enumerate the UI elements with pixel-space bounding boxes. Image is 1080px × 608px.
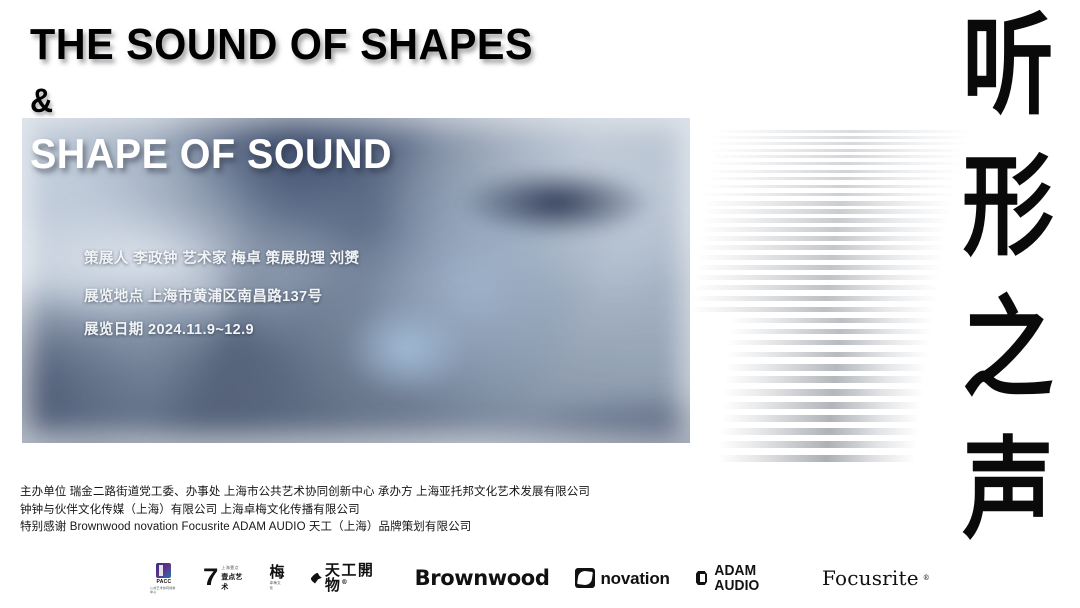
streak-line: [702, 201, 953, 206]
exhibition-venue-line: 展览地点 上海市黄浦区南昌路137号: [84, 285, 322, 306]
focusrite-registered-icon: ®: [923, 575, 930, 582]
exhibition-date-line: 展览日期 2024.11.9~12.9: [84, 318, 254, 339]
pacc-subtitle: 公共艺术协同创新中心: [150, 586, 178, 594]
streak-line: [690, 307, 935, 312]
yidian-subtitle-big: 壹点艺术: [221, 572, 243, 592]
streak-line: [710, 142, 967, 145]
streak-line: [720, 428, 919, 435]
pacc-wordmark: PACC: [156, 579, 171, 585]
vertical-title: 听 形 之 声: [952, 14, 1064, 542]
streak-line: [697, 245, 945, 250]
meizhuo-seal-char: 梅: [270, 565, 285, 580]
meizhuo-seal-subtitle: 卓梅文化: [270, 581, 285, 591]
streak-line: [707, 162, 962, 165]
streak-line: [706, 170, 960, 173]
streak-line: [693, 275, 940, 280]
streak-line: [723, 389, 924, 396]
streak-line: [704, 185, 957, 188]
vertical-title-char-1: 听: [962, 11, 1054, 121]
streak-line: [705, 177, 958, 180]
logo-yidian: 7 上海壹点 壹点艺术: [204, 565, 244, 592]
credits-line-2: 钟钟与伙伴文化传媒（上海）有限公司 上海卓梅文化传播有限公司: [20, 502, 590, 520]
exhibition-people-line: 策展人 李政钟 艺术家 梅卓 策展助理 刘赟: [84, 247, 359, 268]
credits-line-3: 特别感谢 Brownwood novation Focusrite ADAM A…: [20, 519, 590, 537]
tiangong-registered-icon: ®: [341, 579, 349, 586]
credits-line-1: 主办单位 瑞金二路街道党工委、办事处 上海市公共艺术协同创新中心 承办方 上海亚…: [20, 484, 590, 502]
streak-line: [703, 193, 955, 196]
tiangong-brush-icon: [311, 573, 322, 584]
streak-line: [698, 236, 947, 241]
streak-line: [694, 265, 942, 270]
streak-line: [719, 441, 917, 448]
streak-line: [700, 218, 950, 223]
streak-line: [718, 455, 915, 462]
exhibition-poster: THE SOUND OF SHAPES & SHAPE OF SOUND 策展人…: [0, 0, 1080, 608]
headline-ampersand: &: [30, 84, 54, 118]
adam-audio-wordmark: ADAM AUDIO: [714, 563, 792, 593]
streak-line: [701, 209, 952, 214]
logo-meizhuo-seal: 梅 卓梅文化: [270, 565, 285, 591]
soundwave-streak-texture: [690, 128, 970, 473]
streak-line: [725, 364, 927, 371]
yidian-subtitle-small: 上海壹点: [221, 565, 239, 571]
streak-line: [692, 285, 939, 290]
headline-line-1: THE SOUND OF SHAPES: [30, 23, 533, 67]
credits-block: 主办单位 瑞金二路街道党工委、办事处 上海市公共艺术协同创新中心 承办方 上海亚…: [20, 484, 590, 537]
streak-line: [729, 318, 934, 323]
yidian-mark-icon: 7: [203, 566, 218, 590]
novation-mark-icon: [575, 568, 595, 588]
yidian-text-group: 上海壹点 壹点艺术: [221, 565, 243, 592]
vertical-title-char-2: 形: [962, 152, 1054, 262]
streak-line: [696, 255, 944, 260]
logo-brownwood: Brownwood: [415, 568, 550, 589]
streak-line: [708, 155, 963, 158]
streak-line: [727, 340, 930, 345]
focusrite-wordmark: Focusrite: [822, 568, 919, 588]
streak-line: [691, 296, 937, 301]
streak-line: [722, 402, 922, 409]
logo-adam-audio: ADAM AUDIO: [696, 563, 796, 593]
streak-line: [721, 415, 920, 422]
streak-line: [712, 130, 970, 133]
streak-line: [724, 376, 925, 383]
streak-line: [699, 227, 948, 232]
tiangong-wordmark: 天工開物®: [325, 563, 389, 593]
sponsor-logo-strip: PACC 公共艺术协同创新中心 7 上海壹点 壹点艺术 梅 卓梅文化 天工開物®…: [0, 556, 1080, 600]
novation-wordmark: novation: [600, 570, 669, 587]
pacc-mark-icon: [156, 563, 171, 578]
headline-line-2: SHAPE OF SOUND: [30, 133, 392, 175]
adam-audio-mark-icon: [696, 571, 707, 585]
logo-tiangong: 天工開物®: [311, 563, 389, 593]
streak-line: [711, 136, 968, 139]
streak-line: [709, 149, 965, 152]
vertical-title-char-3: 之: [962, 294, 1054, 404]
logo-focusrite: Focusrite®: [822, 568, 930, 588]
logo-pacc: PACC 公共艺术协同创新中心: [150, 563, 178, 594]
streak-line: [726, 352, 929, 357]
logo-novation: novation: [575, 568, 669, 588]
streak-line: [728, 329, 932, 334]
vertical-title-char-4: 声: [962, 435, 1054, 545]
